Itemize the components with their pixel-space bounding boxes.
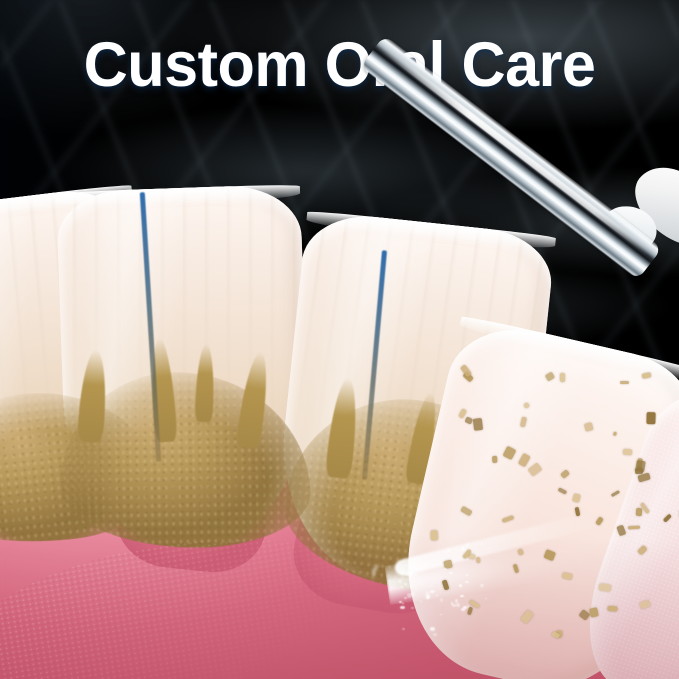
water-droplet <box>466 543 469 546</box>
water-droplet <box>460 595 464 598</box>
water-droplet <box>407 593 412 598</box>
water-droplet <box>488 547 491 549</box>
water-droplet <box>420 601 422 603</box>
water-droplet <box>398 580 402 583</box>
water-droplet <box>408 572 412 577</box>
water-droplet <box>481 543 483 545</box>
water-droplet <box>402 628 404 630</box>
water-droplet <box>433 633 437 636</box>
water-droplet <box>404 583 407 585</box>
water-droplet <box>406 565 408 566</box>
water-droplet <box>430 590 435 593</box>
water-droplet <box>485 598 487 599</box>
water-droplet <box>440 598 443 602</box>
water-droplet <box>440 614 442 615</box>
dental-scene <box>0 0 679 679</box>
water-droplet <box>400 606 404 609</box>
splash-layer <box>0 0 679 679</box>
water-droplet <box>414 573 417 576</box>
water-droplet <box>436 595 438 597</box>
water-droplet <box>430 627 434 630</box>
water-droplet <box>463 606 467 608</box>
water-droplet <box>466 574 469 576</box>
water-droplet <box>449 572 453 574</box>
water-droplet <box>402 603 404 604</box>
water-droplet <box>411 607 414 609</box>
water-droplet <box>480 584 483 587</box>
water-droplet <box>444 568 447 571</box>
water-droplet <box>459 584 462 587</box>
water-droplet <box>401 587 403 588</box>
water-droplet <box>461 547 466 551</box>
water-droplet <box>465 581 469 583</box>
water-droplet <box>429 586 432 588</box>
water-droplet <box>425 591 430 597</box>
product-image-canvas: Custom Oral Care <box>0 0 679 679</box>
water-droplet <box>447 549 452 552</box>
water-droplet <box>456 603 460 607</box>
